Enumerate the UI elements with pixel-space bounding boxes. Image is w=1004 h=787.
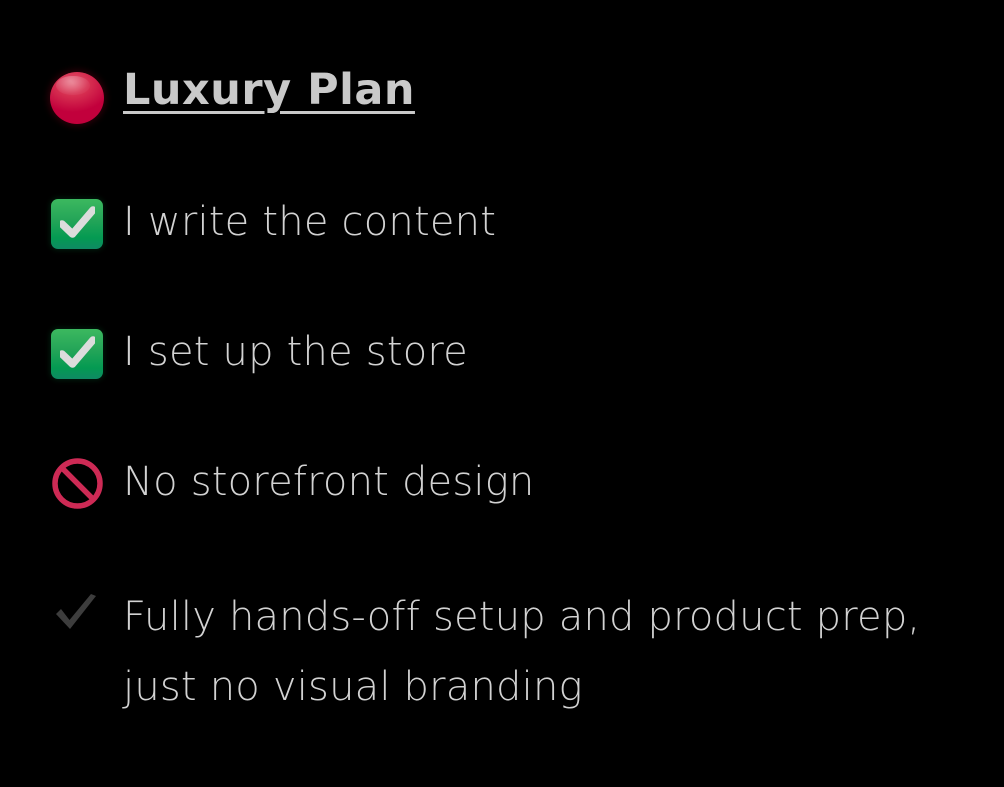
list-item: Fully hands-off setup and product prep, …: [50, 582, 990, 722]
prohibited-sign-shape: [51, 457, 104, 510]
list-item: I set up the store: [50, 322, 990, 382]
red-circle-icon: [50, 70, 106, 126]
plan-title-row: Luxury Plan: [50, 62, 415, 126]
green-checkbox-shape: [51, 199, 103, 249]
grey-check-glyph: [53, 593, 99, 633]
check-glyph: [60, 336, 95, 369]
check-mark-button-icon: [50, 195, 106, 251]
list-item-label: No storefront design: [123, 452, 534, 512]
list-item-label: Fully hands-off setup and product prep, …: [123, 582, 990, 722]
luxury-plan-card: Luxury Plan I write the content I set up…: [0, 0, 1004, 787]
list-item-label: I write the content: [123, 192, 496, 252]
list-item: I write the content: [50, 192, 990, 252]
red-circle-emoji-shape: [50, 72, 104, 124]
list-item-label: I set up the store: [123, 322, 468, 382]
check-mark-icon: [50, 585, 106, 641]
prohibited-sign-icon: [50, 455, 106, 511]
page-title: Luxury Plan: [123, 62, 415, 118]
check-glyph: [60, 206, 95, 239]
check-mark-button-icon: [50, 325, 106, 381]
list-item: No storefront design: [50, 452, 990, 512]
green-checkbox-shape: [51, 329, 103, 379]
